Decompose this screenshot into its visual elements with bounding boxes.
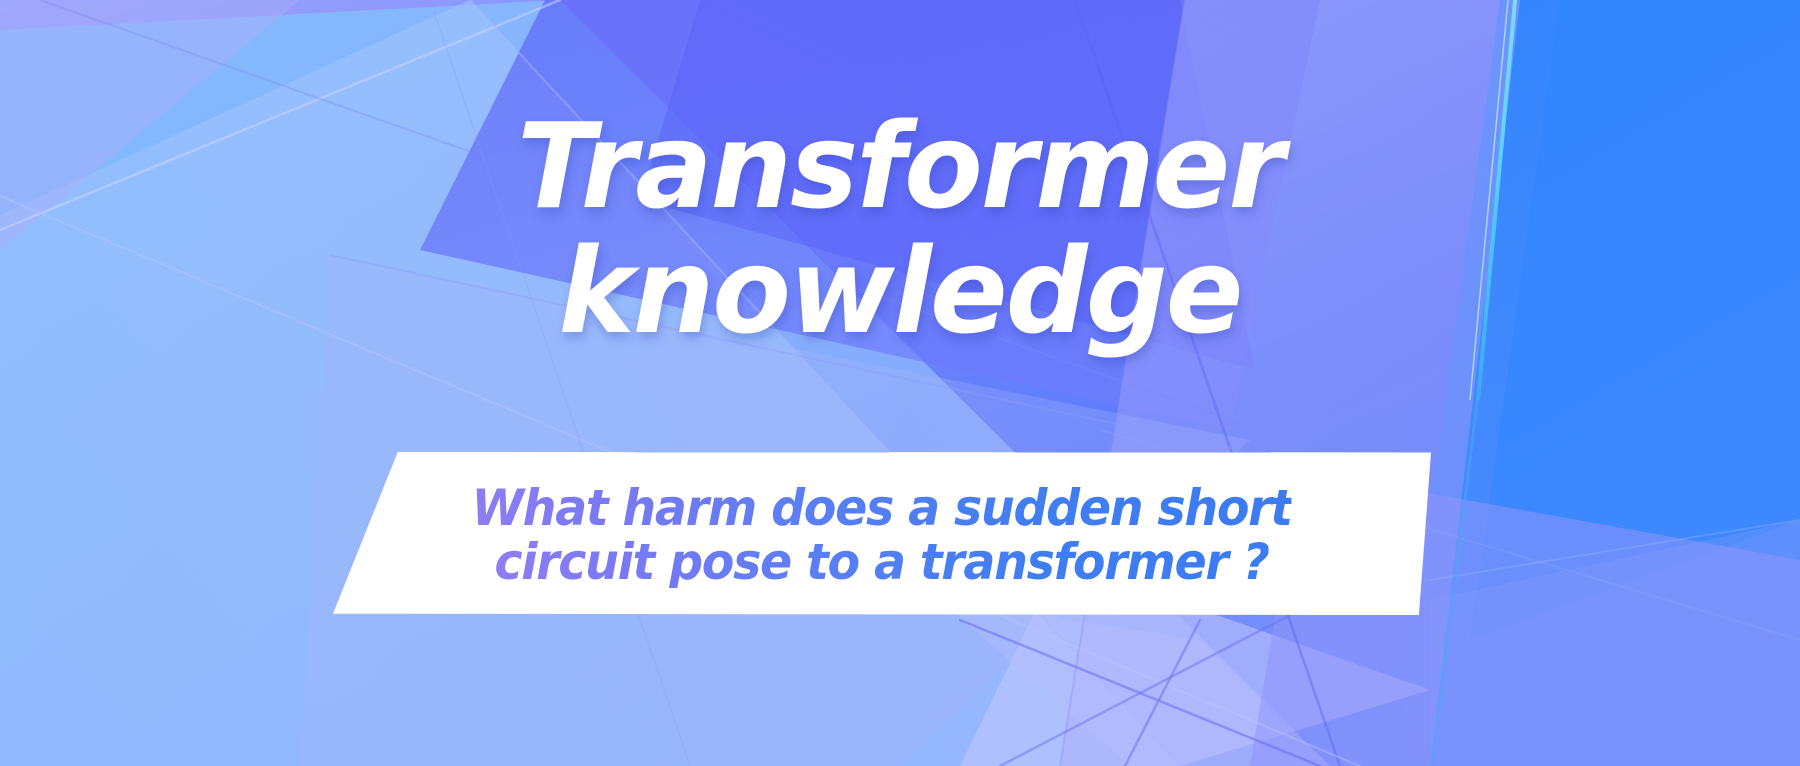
subtitle-line-2: circuit pose to a transformer ? [495,536,1269,588]
subtitle-plaque: What harm does a sudden short circuit po… [333,452,1431,615]
background-polygon-art [0,0,1800,766]
subtitle-line-1: What harm does a sudden short [472,482,1292,534]
transformer-knowledge-banner: Transformer knowledge What harm does a s… [0,0,1800,766]
subtitle-text-group: What harm does a sudden short circuit po… [333,452,1431,615]
